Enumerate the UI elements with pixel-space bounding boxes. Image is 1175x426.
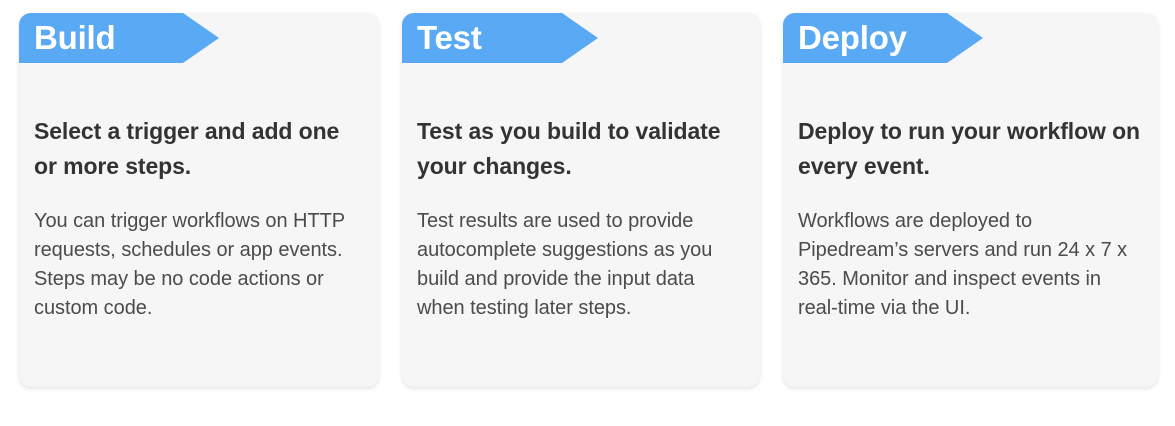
step-banner-label: Deploy xyxy=(798,13,907,63)
step-heading: Select a trigger and add one or more ste… xyxy=(34,63,364,184)
step-description: Test results are used to provide autocom… xyxy=(417,184,745,323)
onboarding-cards-board: Build Select a trigger and add one or mo… xyxy=(0,0,1175,426)
step-description: You can trigger workflows on HTTP reques… xyxy=(34,184,364,323)
step-card-test[interactable]: Test Test as you build to validate your … xyxy=(402,13,760,387)
step-card-body-deploy: Deploy to run your workflow on every eve… xyxy=(798,63,1143,323)
step-banner-deploy: Deploy xyxy=(783,13,983,63)
step-banner-label: Test xyxy=(417,13,482,63)
step-description: Workflows are deployed to Pipedream’s se… xyxy=(798,184,1143,323)
step-card-build[interactable]: Build Select a trigger and add one or mo… xyxy=(19,13,379,387)
step-card-body-build: Select a trigger and add one or more ste… xyxy=(34,63,364,323)
step-card-deploy[interactable]: Deploy Deploy to run your workflow on ev… xyxy=(783,13,1158,387)
step-banner-build: Build xyxy=(19,13,219,63)
step-banner-test: Test xyxy=(402,13,598,63)
step-card-body-test: Test as you build to validate your chang… xyxy=(417,63,745,323)
step-banner-label: Build xyxy=(34,13,115,63)
step-heading: Deploy to run your workflow on every eve… xyxy=(798,63,1143,184)
step-heading: Test as you build to validate your chang… xyxy=(417,63,745,184)
